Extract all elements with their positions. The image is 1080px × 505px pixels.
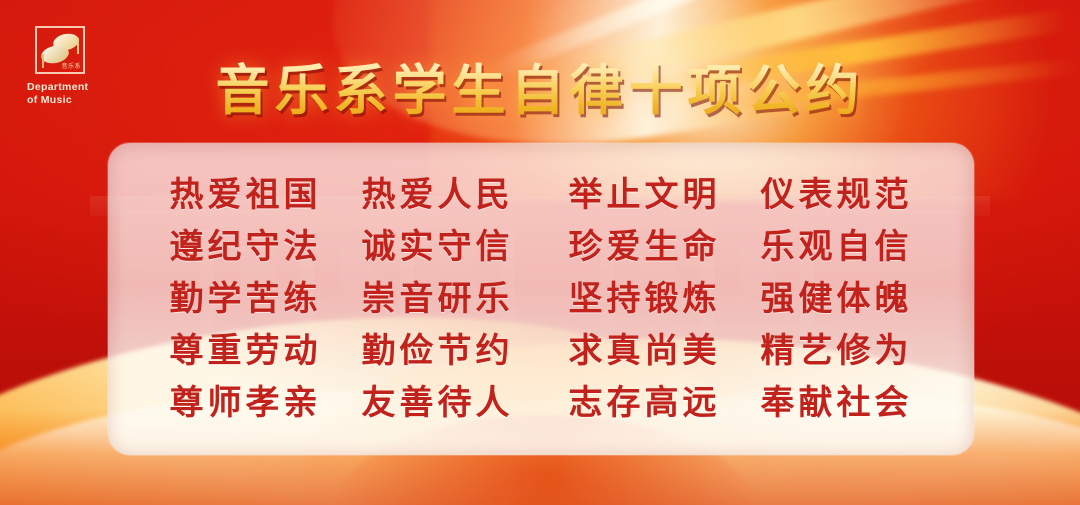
pledge-row: 尊重劳动 勤俭节约 求真尚美 精艺修为 bbox=[142, 325, 940, 377]
pledge-row: 尊师孝亲 友善待人 志存高远 奉献社会 bbox=[142, 377, 940, 429]
pledge-phrase: 热爱祖国 bbox=[170, 178, 322, 212]
pledge-cell-left: 勤学苦练 崇音研乐 bbox=[142, 282, 541, 316]
pledge-phrase: 遵纪守法 bbox=[170, 230, 322, 264]
pledge-cell-left: 尊重劳动 勤俭节约 bbox=[142, 334, 541, 368]
pledge-phrase: 尊重劳动 bbox=[170, 334, 322, 368]
pledge-cell-right: 坚持锻炼 强健体魄 bbox=[541, 282, 940, 316]
pledge-cell-left: 尊师孝亲 友善待人 bbox=[142, 386, 541, 420]
pledge-phrase: 珍爱生命 bbox=[569, 230, 721, 264]
pledge-phrase: 强健体魄 bbox=[761, 282, 913, 316]
pledge-panel: 热爱祖国 热爱人民 举止文明 仪表规范 遵纪守法 诚实守信 珍爱生命 乐观自信 bbox=[108, 143, 974, 455]
pledge-phrase: 求真尚美 bbox=[569, 334, 721, 368]
pledge-row: 勤学苦练 崇音研乐 坚持锻炼 强健体魄 bbox=[142, 273, 940, 325]
pledge-phrase: 诚实守信 bbox=[362, 230, 514, 264]
pledge-cell-right: 举止文明 仪表规范 bbox=[541, 178, 940, 212]
pledge-phrase: 志存高远 bbox=[569, 386, 721, 420]
poster-header: 音乐系 Department of Music 音乐系学生自律十项公约 bbox=[0, 0, 1080, 145]
pledge-phrase: 奉献社会 bbox=[761, 386, 913, 420]
pledge-cell-right: 志存高远 奉献社会 bbox=[541, 386, 940, 420]
pledge-phrase: 友善待人 bbox=[362, 386, 514, 420]
pledge-cell-left: 热爱祖国 热爱人民 bbox=[142, 178, 541, 212]
poster-canvas: 音乐系 Department of Music 音乐系学生自律十项公约 热爱祖国… bbox=[0, 0, 1080, 505]
pledge-cell-right: 珍爱生命 乐观自信 bbox=[541, 230, 940, 264]
pledge-row: 热爱祖国 热爱人民 举止文明 仪表规范 bbox=[142, 169, 940, 221]
pledge-phrase: 坚持锻炼 bbox=[569, 282, 721, 316]
pledge-phrase: 热爱人民 bbox=[362, 178, 514, 212]
pledge-phrase: 仪表规范 bbox=[761, 178, 913, 212]
pledge-row: 遵纪守法 诚实守信 珍爱生命 乐观自信 bbox=[142, 221, 940, 273]
pledge-phrase: 举止文明 bbox=[569, 178, 721, 212]
pledge-phrase: 尊师孝亲 bbox=[170, 386, 322, 420]
pledge-cell-right: 求真尚美 精艺修为 bbox=[541, 334, 940, 368]
pledge-cell-left: 遵纪守法 诚实守信 bbox=[142, 230, 541, 264]
pledge-phrase: 精艺修为 bbox=[761, 334, 913, 368]
pledge-phrase: 崇音研乐 bbox=[362, 282, 514, 316]
page-title: 音乐系学生自律十项公约 bbox=[0, 46, 1080, 125]
pledge-phrase: 乐观自信 bbox=[761, 230, 913, 264]
pledge-phrase: 勤学苦练 bbox=[170, 282, 322, 316]
pledge-grid: 热爱祖国 热爱人民 举止文明 仪表规范 遵纪守法 诚实守信 珍爱生命 乐观自信 bbox=[108, 169, 974, 429]
pledge-phrase: 勤俭节约 bbox=[362, 334, 514, 368]
